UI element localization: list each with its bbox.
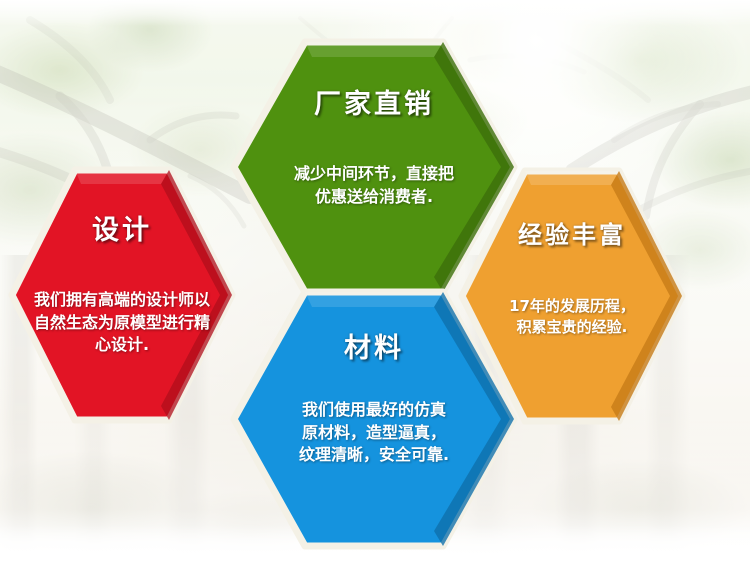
hexagon-shape-red (12, 170, 232, 420)
hexagon-gloss-blue (305, 292, 443, 307)
hexagon-gloss-red (75, 170, 169, 184)
hexagon-shape-green (234, 42, 514, 292)
background-top-fade (0, 0, 750, 26)
hexagon-gloss-green (305, 42, 443, 57)
infographic-canvas: 设计 我们拥有高端的设计师以 自然生态为原模型进行精 心设计. 经验丰富 17年… (0, 0, 750, 579)
hexagon-card-factory-direct[interactable]: 厂家直销 减少中间环节，直接把 优惠送给消费者. (230, 38, 518, 296)
hexagon-card-design[interactable]: 设计 我们拥有高端的设计师以 自然生态为原模型进行精 心设计. (8, 166, 236, 424)
hexagon-card-material[interactable]: 材料 我们使用最好的仿真 原材料，造型逼真， 纹理清晰，安全可靠. (230, 288, 518, 550)
hexagon-shape-blue (234, 292, 514, 546)
hexagon-gloss-orange (525, 171, 619, 185)
